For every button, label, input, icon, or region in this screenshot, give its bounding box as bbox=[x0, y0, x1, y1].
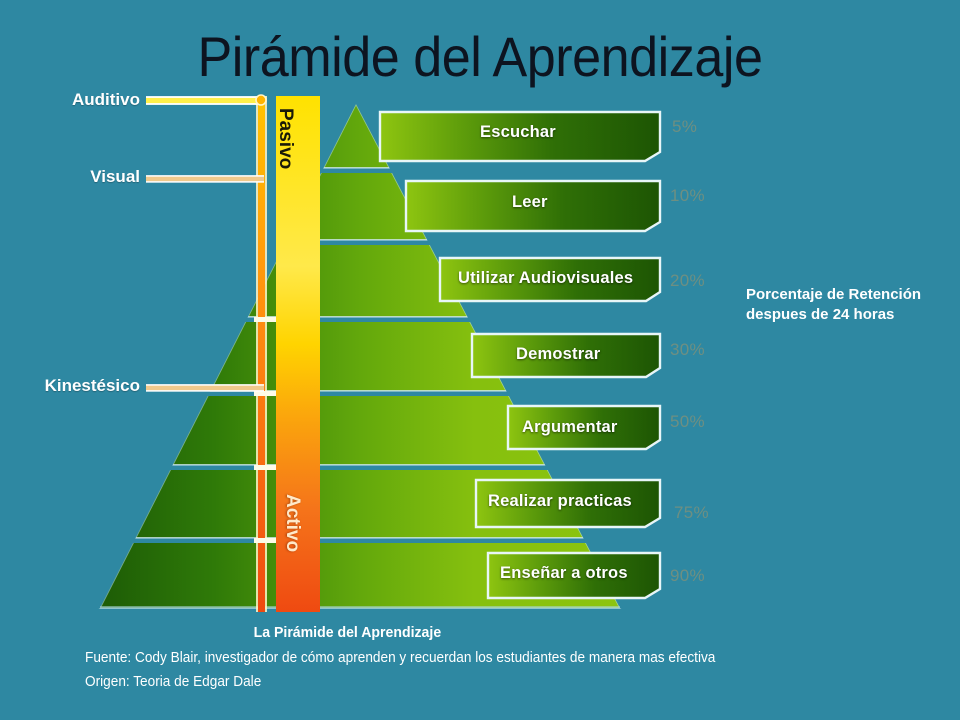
percent-label-demostrar: 30% bbox=[670, 340, 705, 360]
footer-origin: Origen: Teoria de Edgar Dale bbox=[85, 674, 261, 690]
sense-leader-auditivo bbox=[146, 95, 266, 105]
retention-caption: Porcentaje de Retención despues de 24 ho… bbox=[746, 285, 946, 325]
banner-label-realizar-practicas: Realizar practicas bbox=[488, 492, 632, 511]
percent-label-escuchar: 5% bbox=[672, 117, 697, 137]
banner-label-escuchar: Escuchar bbox=[480, 123, 556, 142]
percent-label-argumentar: 50% bbox=[670, 412, 705, 432]
banner-label-argumentar: Argumentar bbox=[522, 418, 618, 437]
slide-canvas: Pirámide del Aprendizaje bbox=[0, 0, 960, 720]
sense-leader-visual bbox=[146, 175, 264, 183]
footer-caption: La Pirámide del Aprendizaje bbox=[150, 624, 545, 641]
sense-leader-kinestesico bbox=[146, 384, 264, 392]
axis-label-pasivo: Pasivo bbox=[274, 108, 296, 169]
sense-label-visual: Visual bbox=[0, 167, 140, 187]
banner-label-utilizar-audiovisuales: Utilizar Audiovisuales bbox=[458, 269, 633, 288]
retention-caption-line1: Porcentaje de Retención bbox=[746, 285, 946, 305]
percent-label-ensenar-a-otros: 90% bbox=[670, 566, 705, 586]
sense-label-auditivo: Auditivo bbox=[0, 90, 140, 110]
banner-label-leer: Leer bbox=[512, 193, 548, 212]
percent-label-utilizar-audiovisuales: 20% bbox=[670, 271, 705, 291]
footer-source: Fuente: Cody Blair, investigador de cómo… bbox=[85, 650, 715, 666]
axis-label-activo: Activo bbox=[281, 494, 303, 552]
retention-caption-line2: despues de 24 horas bbox=[746, 305, 946, 325]
banner-label-demostrar: Demostrar bbox=[516, 345, 600, 364]
percent-label-leer: 10% bbox=[670, 186, 705, 206]
sense-label-kinestesico: Kinestésico bbox=[0, 376, 140, 396]
percent-label-realizar-practicas: 75% bbox=[674, 503, 709, 523]
learning-pyramid-graphic bbox=[0, 0, 960, 720]
banner-label-ensenar-a-otros: Enseñar a otros bbox=[500, 564, 628, 583]
